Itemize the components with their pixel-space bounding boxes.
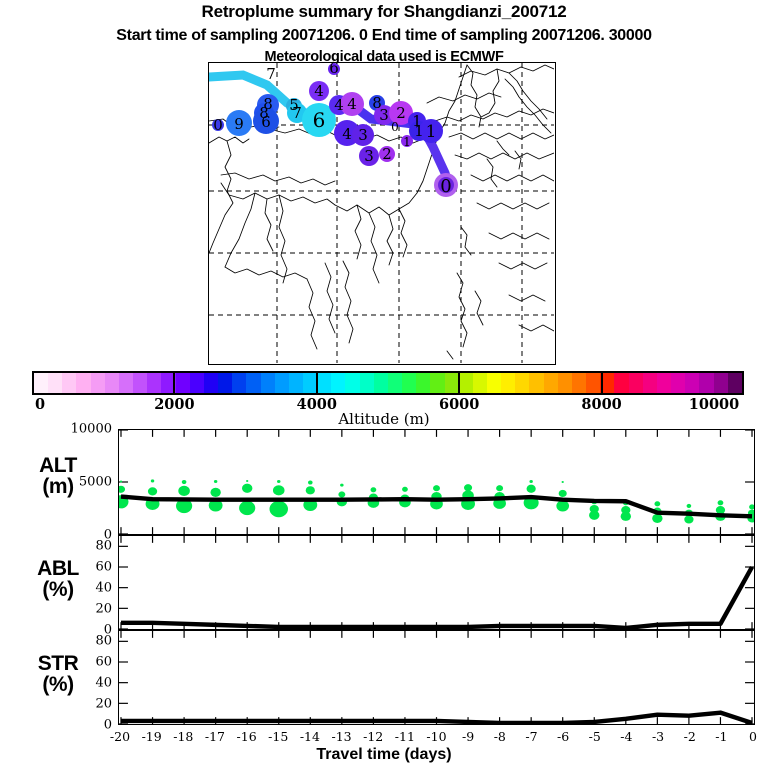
- alt-cluster-dot: [496, 485, 503, 491]
- colorbar-swatch: [515, 373, 529, 393]
- alt-plot: [119, 430, 754, 534]
- colorbar-swatch: [76, 373, 90, 393]
- abl-yticks: [119, 546, 754, 629]
- colorbar-swatch: [473, 373, 487, 393]
- colorbar-swatch: [48, 373, 62, 393]
- colorbar-swatch: [62, 373, 76, 393]
- str-plot: [119, 631, 754, 724]
- svg-text:1: 1: [403, 135, 411, 149]
- svg-text:7: 7: [292, 104, 302, 122]
- colorbar-swatch: [586, 373, 600, 393]
- x-tick-label: -19: [142, 729, 162, 744]
- colorbar-swatch: [261, 373, 275, 393]
- x-tick-label: -20: [110, 729, 130, 744]
- y-tick-label: 0: [38, 528, 112, 543]
- x-tick-label: -14: [300, 729, 320, 744]
- x-tick-label: -4: [620, 729, 632, 744]
- alt-cluster-dot: [621, 512, 631, 521]
- colorbar-swatch: [544, 373, 558, 393]
- colorbar-swatch: [374, 373, 388, 393]
- colorbar-swatch: [614, 373, 628, 393]
- abl-axis-label: ABL (%): [8, 558, 108, 601]
- x-axis-title: Travel time (days): [0, 746, 768, 764]
- svg-text:0: 0: [213, 116, 223, 134]
- alt-cluster-dot: [402, 487, 408, 492]
- alt-cluster-dot: [589, 511, 599, 520]
- colorbar-swatch: [430, 373, 444, 393]
- colorbar-swatch: [699, 373, 713, 393]
- alt-cluster-dot: [687, 504, 692, 508]
- alt-cluster-dot: [210, 488, 220, 497]
- alt-cluster-dot: [148, 487, 157, 495]
- alt-cluster-dot: [652, 514, 662, 523]
- colorbar-swatch: [728, 373, 742, 393]
- colorbar-major-tick: [173, 371, 175, 395]
- alt-cluster-dot: [277, 480, 280, 483]
- x-tick-label: -13: [331, 729, 351, 744]
- colorbar-swatch: [501, 373, 515, 393]
- alt-cluster-dot: [371, 487, 377, 492]
- x-tick-label: -8: [494, 729, 506, 744]
- y-tick-label: 80: [38, 633, 112, 648]
- colorbar-swatch: [105, 373, 119, 393]
- alt-cluster-dot: [527, 485, 536, 493]
- colorbar-swatch: [445, 373, 459, 393]
- x-tick-label: -2: [684, 729, 696, 744]
- alt-cluster-dot: [151, 479, 154, 482]
- alt-cluster-dot: [273, 485, 285, 495]
- colorbar-swatch: [714, 373, 728, 393]
- alt-cluster-dot: [308, 480, 313, 484]
- colorbar-swatch: [487, 373, 501, 393]
- altitude-colorbar: [32, 371, 744, 395]
- alt-cluster-dot: [239, 501, 255, 515]
- colorbar-swatch: [147, 373, 161, 393]
- y-tick-label: 20: [38, 601, 112, 616]
- colorbar-major-tick: [458, 371, 460, 395]
- svg-text:1: 1: [426, 122, 437, 142]
- colorbar-swatch: [402, 373, 416, 393]
- alt-cluster-dot: [718, 500, 724, 505]
- alt-cluster-dot: [559, 490, 567, 497]
- colorbar-title: Altitude (m): [0, 410, 768, 428]
- svg-text:4: 4: [314, 82, 324, 100]
- colorbar-swatch: [246, 373, 260, 393]
- svg-text:3: 3: [358, 126, 368, 144]
- alt-label-line1: ALT: [8, 455, 108, 476]
- colorbar-swatch: [232, 373, 246, 393]
- alt-label-line2: (m): [8, 476, 108, 497]
- x-tick-label: -12: [363, 729, 383, 744]
- colorbar-swatch: [529, 373, 543, 393]
- alt-cluster-dot: [178, 486, 190, 496]
- colorbar-swatch: [289, 373, 303, 393]
- colorbar-swatch: [176, 373, 190, 393]
- alt-cluster-dot: [246, 480, 248, 482]
- colorbar-swatch: [190, 373, 204, 393]
- svg-text:9: 9: [234, 115, 244, 133]
- svg-text:4: 4: [334, 96, 344, 114]
- colorbar-swatch: [388, 373, 402, 393]
- x-tick-label: -9: [462, 729, 474, 744]
- alt-cluster-dot: [684, 515, 693, 523]
- colorbar-major-tick: [601, 371, 603, 395]
- svg-text:4: 4: [347, 95, 357, 113]
- str-yticks: [119, 641, 754, 724]
- y-tick-label: 20: [38, 696, 112, 711]
- alt-cluster-dot: [464, 484, 472, 491]
- alt-cluster-dot: [120, 480, 122, 482]
- colorbar-swatch: [629, 373, 643, 393]
- x-tick-label: 0: [749, 729, 757, 744]
- alt-axis-label: ALT (m): [8, 455, 108, 498]
- x-tick-label: -6: [557, 729, 569, 744]
- abl-ticks: [121, 536, 752, 629]
- x-tick-label: -3: [652, 729, 664, 744]
- svg-text:6: 6: [313, 108, 326, 132]
- svg-text:4: 4: [342, 125, 352, 143]
- alt-cluster-dot: [269, 501, 288, 517]
- colorbar-swatch: [275, 373, 289, 393]
- alt-cluster-dot: [654, 501, 660, 506]
- svg-text:3: 3: [379, 106, 389, 124]
- x-tick-label: -10: [426, 729, 446, 744]
- map-canvas: 7 9 0 8 8 6 5 7 6 4 6 4 4 4 3 8 3 2 3 2 …: [209, 63, 554, 363]
- retroplume-map: 7 9 0 8 8 6 5 7 6 4 6 4 4 4 3 8 3 2 3 2 …: [208, 62, 556, 365]
- colorbar-swatch: [345, 373, 359, 393]
- abl-label-line1: ABL: [8, 558, 108, 579]
- alt-cluster-dot: [214, 480, 217, 483]
- x-tick-label: -15: [268, 729, 288, 744]
- colorbar-swatch: [133, 373, 147, 393]
- alt-cluster-dot: [242, 484, 252, 493]
- alt-cluster-dot: [338, 491, 345, 497]
- abl-plot: [119, 536, 754, 629]
- colorbar-swatch: [459, 373, 473, 393]
- x-tick-label: -11: [395, 729, 415, 744]
- str-label-line1: STR: [8, 653, 108, 674]
- abl-label-line2: (%): [8, 579, 108, 600]
- alt-cluster-dot: [433, 485, 440, 491]
- x-tick-label: -18: [173, 729, 193, 744]
- svg-text:7: 7: [266, 65, 276, 83]
- alt-cluster-dot: [340, 484, 343, 487]
- svg-text:0: 0: [440, 176, 451, 197]
- x-tick-label: -7: [525, 729, 537, 744]
- x-tick-label: -1: [715, 729, 727, 744]
- page-title: Retroplume summary for Shangdianzi_20071…: [0, 2, 768, 22]
- alt-cluster-dot: [562, 481, 564, 483]
- colorbar-swatch: [218, 373, 232, 393]
- str-label-line2: (%): [8, 674, 108, 695]
- colorbar-swatch: [558, 373, 572, 393]
- colorbar-swatch: [572, 373, 586, 393]
- colorbar-swatch: [671, 373, 685, 393]
- alt-cluster-dot: [749, 504, 754, 509]
- colorbar-major-tick: [316, 371, 318, 395]
- str-axis-label: STR (%): [8, 653, 108, 696]
- colorbar-swatch: [657, 373, 671, 393]
- x-tick-label: -16: [237, 729, 257, 744]
- svg-text:6: 6: [261, 113, 271, 131]
- colorbar-swatch: [204, 373, 218, 393]
- x-tick-label: -5: [589, 729, 601, 744]
- colorbar-swatch: [317, 373, 331, 393]
- colorbar-swatch: [360, 373, 374, 393]
- colorbar-gradient: [32, 371, 744, 395]
- colorbar-swatch: [34, 373, 48, 393]
- str-ticks: [121, 631, 752, 724]
- colorbar-swatch: [685, 373, 699, 393]
- svg-text:6: 6: [329, 63, 339, 77]
- alt-panel: [118, 429, 755, 535]
- abl-panel: [118, 535, 755, 630]
- x-tick-label: -17: [205, 729, 225, 744]
- alt-cluster-dot: [306, 486, 315, 494]
- colorbar-swatch: [91, 373, 105, 393]
- colorbar-swatch: [119, 373, 133, 393]
- alt-cluster-dot: [119, 486, 125, 493]
- str-panel: [118, 630, 755, 725]
- colorbar-swatch: [643, 373, 657, 393]
- y-tick-label: 0: [38, 623, 112, 638]
- alt-cluster-dot: [182, 480, 187, 484]
- x-tick-labels: -20-19-18-17-16-15-14-13-12-11-10-9-8-7-…: [0, 729, 768, 745]
- svg-text:1: 1: [414, 122, 424, 140]
- sampling-time-subtitle: Start time of sampling 20071206. 0 End t…: [0, 27, 768, 45]
- svg-text:0: 0: [391, 120, 399, 134]
- abl-series-line: [121, 567, 752, 628]
- colorbar-swatch: [416, 373, 430, 393]
- svg-text:3: 3: [364, 147, 374, 165]
- colorbar-swatch: [331, 373, 345, 393]
- svg-text:2: 2: [382, 145, 392, 163]
- y-tick-label: 80: [38, 538, 112, 553]
- alt-cluster-dot: [529, 480, 532, 483]
